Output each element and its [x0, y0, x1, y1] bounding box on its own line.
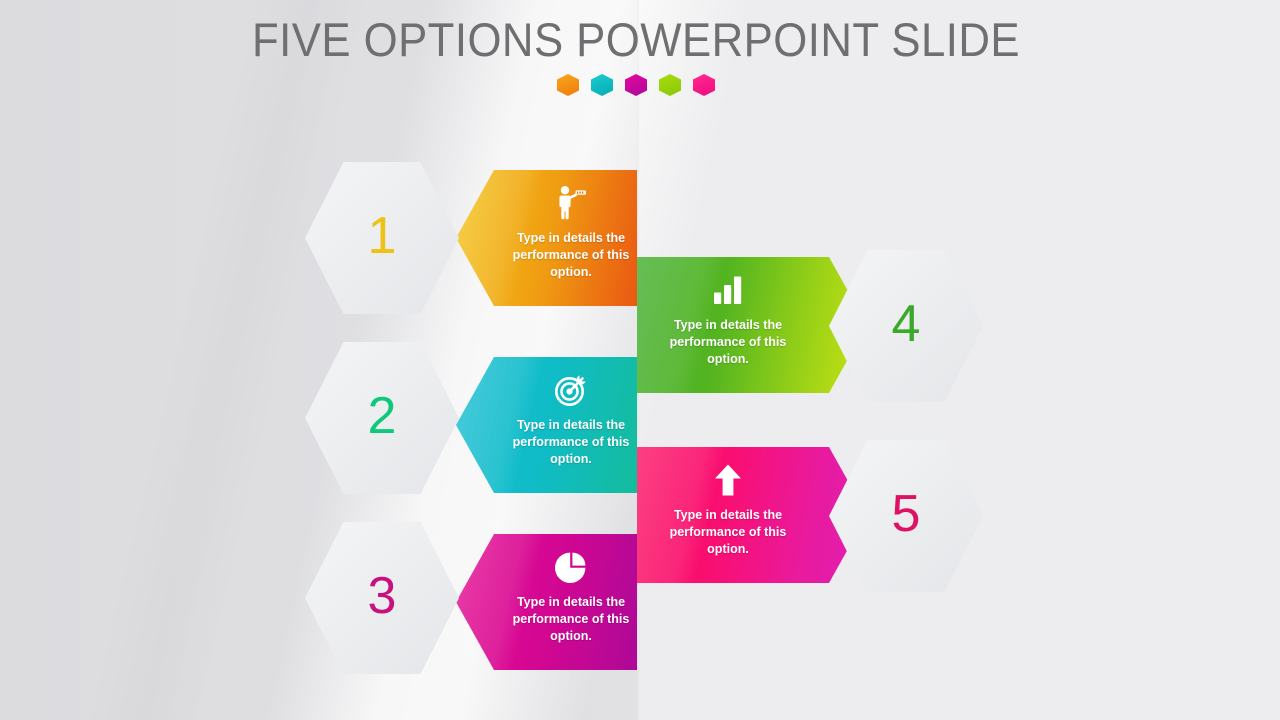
up-arrow-icon: [714, 461, 742, 499]
option-1-number-hexagon[interactable]: 1: [305, 162, 459, 314]
option-2-number-hexagon[interactable]: 2: [305, 342, 459, 494]
option-1-number: 1: [368, 210, 397, 262]
option-4-number: 4: [892, 298, 921, 350]
option-1-description: Type in details the performance of this …: [491, 230, 637, 281]
option-3-description: Type in details the performance of this …: [491, 594, 637, 645]
option-1-content-block[interactable]: Type in details the performance of this …: [456, 170, 637, 306]
slide-canvas: FIVE OPTIONS POWERPOINT SLIDE: [0, 0, 1280, 720]
option-2-content-block[interactable]: Type in details the performance of this …: [456, 357, 637, 493]
option-3-number: 3: [368, 570, 397, 622]
left-options-region: Type in details the performance of this …: [0, 0, 637, 720]
option-5-number: 5: [892, 488, 921, 540]
option-3-number-hexagon[interactable]: 3: [305, 522, 459, 674]
option-5-description: Type in details the performance of this …: [648, 507, 808, 558]
pie-chart-icon: [554, 548, 588, 586]
dot-pink-icon: [693, 74, 715, 96]
option-2-number: 2: [368, 390, 397, 442]
option-4-description: Type in details the performance of this …: [648, 317, 808, 368]
telescope-person-icon: [554, 184, 588, 222]
bar-chart-icon: [712, 271, 744, 309]
target-icon: [553, 371, 589, 409]
option-2-description: Type in details the performance of this …: [491, 417, 637, 468]
option-3-content-block[interactable]: Type in details the performance of this …: [456, 534, 637, 670]
dot-lime-icon: [659, 74, 681, 96]
